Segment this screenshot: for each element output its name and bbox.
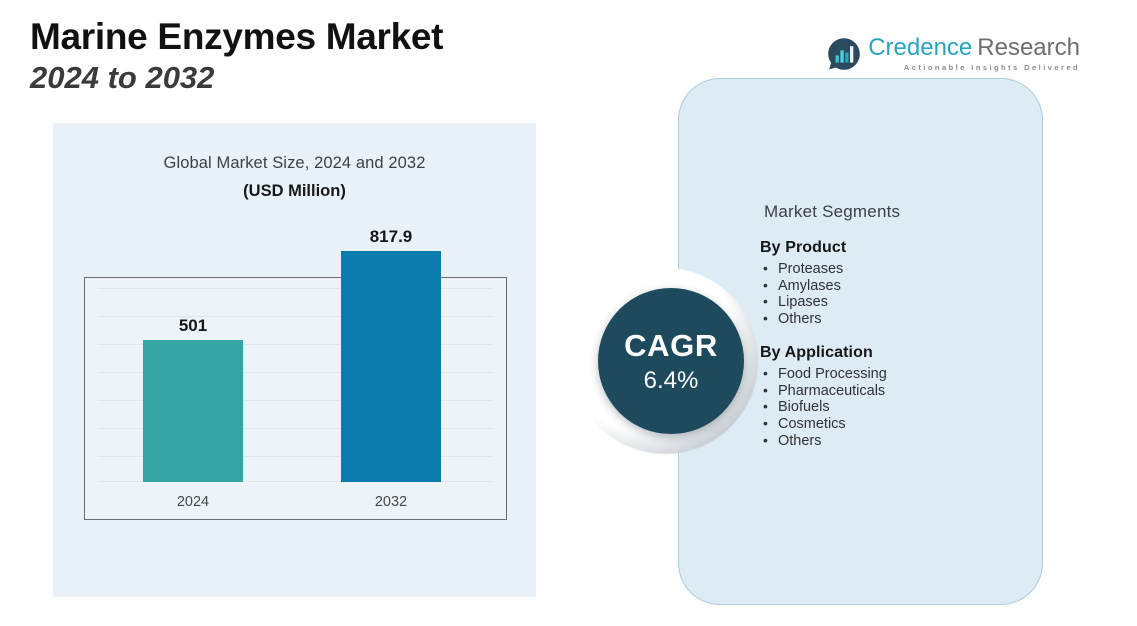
chart-title-line2: (USD Million)	[53, 182, 536, 201]
title-subtitle: 2024 to 2032	[30, 59, 630, 96]
segment-list-item: Lipases	[760, 294, 846, 311]
chart-title: Global Market Size, 2024 and 2032 (USD M…	[53, 154, 536, 201]
segment-group-by-application: By Application Food ProcessingPharmaceut…	[760, 344, 887, 450]
segment-list-item: Food Processing	[760, 366, 887, 383]
cagr-circle: CAGR 6.4%	[598, 288, 744, 434]
logo-wordmark: CredenceResearch	[868, 36, 1080, 60]
chart-bar-value-label: 501	[123, 316, 263, 336]
chart-title-line1: Global Market Size, 2024 and 2032	[53, 154, 536, 173]
chart-bar	[341, 251, 441, 482]
cagr-badge: CAGR 6.4%	[572, 268, 768, 464]
segment-list-item: Others	[760, 311, 846, 328]
cagr-value: 6.4%	[644, 369, 699, 393]
chart-category-label: 2032	[321, 494, 461, 510]
brand-logo: CredenceResearch Actionable Insights Del…	[827, 36, 1080, 72]
page-title: Marine Enzymes Market 2024 to 2032	[30, 16, 630, 97]
segment-group-title: By Product	[760, 239, 846, 257]
chart-bar-value-label: 817.9	[321, 227, 461, 247]
logo-brand-second: Research	[977, 34, 1080, 61]
segment-group-title: By Application	[760, 344, 887, 362]
segment-list-item: Cosmetics	[760, 416, 887, 433]
title-main: Marine Enzymes Market	[30, 16, 630, 57]
market-size-panel: Global Market Size, 2024 and 2032 (USD M…	[53, 123, 536, 597]
chart-category-label: 2024	[123, 494, 263, 510]
segment-group-by-product: By Product ProteasesAmylasesLipasesOther…	[760, 239, 846, 328]
segments-heading: Market Segments	[764, 202, 900, 222]
segment-list-item: Pharmaceuticals	[760, 383, 887, 400]
chart-plot-area: 5012024817.92032	[98, 288, 492, 518]
logo-brand-first: Credence	[868, 34, 972, 61]
segment-list-item: Others	[760, 433, 887, 450]
bar-chart: 5012024817.92032	[84, 277, 507, 520]
segment-list-item: Biofuels	[760, 399, 887, 416]
cagr-label: CAGR	[624, 330, 718, 361]
logo-tagline: Actionable Insights Delivered	[868, 63, 1080, 72]
segment-list-item: Amylases	[760, 278, 846, 295]
segment-list-by-product: ProteasesAmylasesLipasesOthers	[760, 261, 846, 328]
logo-text: CredenceResearch Actionable Insights Del…	[868, 36, 1080, 72]
segment-list-by-application: Food ProcessingPharmaceuticalsBiofuelsCo…	[760, 366, 887, 450]
bar-chart-bubble-logo-icon	[827, 37, 861, 71]
chart-bar	[143, 340, 243, 482]
infographic-page: Marine Enzymes Market 2024 to 2032 Crede…	[0, 0, 1137, 626]
segment-list-item: Proteases	[760, 261, 846, 278]
